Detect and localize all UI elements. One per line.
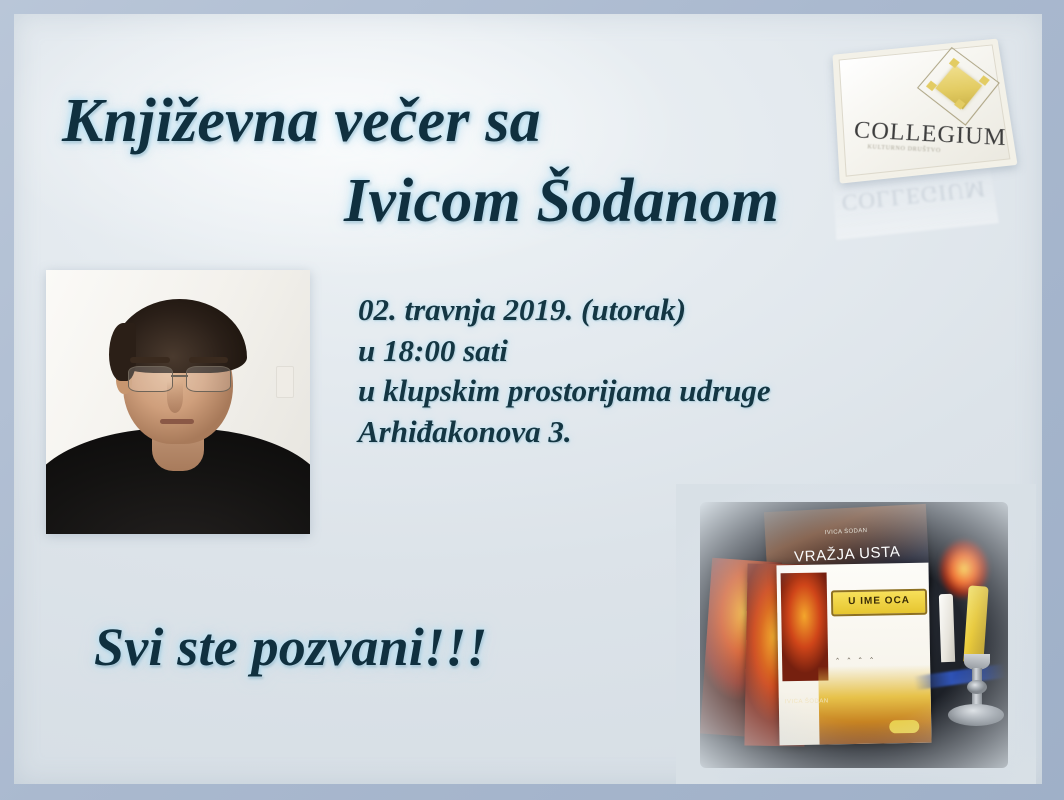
eyeglass-bridge bbox=[171, 375, 187, 377]
book-u-ime-oca-spine: IVICA ŠODAN bbox=[785, 698, 829, 705]
book-vrazja-author: IVICA ŠODAN bbox=[765, 525, 927, 539]
book-cover-birds: ‸ ‸ ‸ ‸ bbox=[836, 649, 876, 661]
portrait-eyebrow-right bbox=[189, 357, 229, 363]
poster-title-line-2: Ivicom Šodanom bbox=[344, 166, 779, 237]
portrait-eyebrow-left bbox=[130, 357, 170, 363]
book-cover-badge bbox=[889, 720, 919, 734]
book-cover-flame-art bbox=[781, 572, 829, 681]
candlestick-base bbox=[948, 704, 1004, 726]
wall-socket bbox=[276, 366, 294, 398]
event-venue: u klupskim prostorijama udruge bbox=[358, 371, 958, 412]
candlestick-holder bbox=[948, 654, 1004, 732]
poster-title-line-1: Književna večer sa bbox=[62, 86, 541, 157]
portrait-nose bbox=[167, 381, 183, 413]
portrait-mouth bbox=[160, 419, 194, 424]
book-u-ime-oca: U IME OCA ‸ ‸ ‸ ‸ IVICA ŠODAN bbox=[776, 563, 931, 746]
event-address: Arhiđakonova 3. bbox=[358, 412, 958, 453]
event-details: 02. travnja 2019. (utorak) u 18:00 sati … bbox=[358, 290, 958, 452]
collegium-logo: COLLEGIUM KULTURNO DRUŠTVO COLLEGIUM bbox=[828, 30, 1018, 230]
call-to-action-text: Svi ste pozvani!!! bbox=[94, 616, 488, 678]
white-candle bbox=[939, 594, 955, 662]
logo-reflection: COLLEGIUM bbox=[832, 152, 999, 240]
poster-canvas: Književna večer sa Ivicom Šodanom 02. bbox=[14, 14, 1042, 784]
event-poster: Književna večer sa Ivicom Šodanom 02. bbox=[0, 0, 1064, 800]
candlestick-knob bbox=[967, 680, 987, 694]
eyeglass-lens-right bbox=[186, 366, 231, 392]
event-date: 02. travnja 2019. (utorak) bbox=[358, 290, 958, 331]
books-scene: IVICA ŠODAN VRAŽJA USTA biblioteka U IME… bbox=[700, 502, 1008, 768]
books-photo: IVICA ŠODAN VRAŽJA USTA biblioteka U IME… bbox=[676, 484, 1036, 784]
yellow-candle bbox=[963, 585, 988, 662]
book-u-ime-oca-title: U IME OCA bbox=[831, 589, 927, 617]
eyeglass-lens-left bbox=[128, 366, 173, 392]
author-portrait-photo bbox=[46, 270, 310, 534]
event-time: u 18:00 sati bbox=[358, 331, 958, 372]
